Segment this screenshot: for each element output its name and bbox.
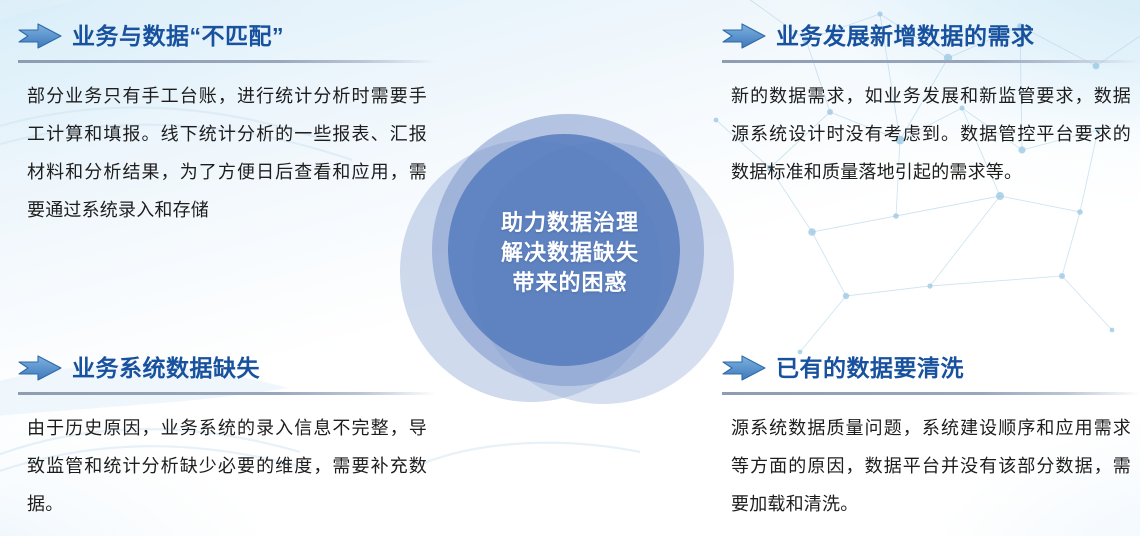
panel-bottom-left-divider — [18, 392, 436, 395]
panel-top-right-body: 新的数据需求，如业务发展和新监管要求，数据源系统设计时没有考虑到。数据管控平台要… — [731, 77, 1131, 191]
arrow-right-icon — [18, 354, 62, 382]
panel-bottom-right: 已有的数据要清洗 源系统数据质量问题，系统建设顺序和应用需求等方面的原因，数据平… — [722, 348, 1140, 523]
panel-bottom-right-title: 已有的数据要清洗 — [776, 354, 964, 382]
panel-bottom-right-divider — [722, 392, 1140, 395]
center-slogan-line-1: 助力数据治理 — [501, 208, 639, 238]
panel-top-left-divider — [18, 60, 436, 63]
panel-bottom-left: 业务系统数据缺失 由于历史原因，业务系统的录入信息不完整，导致监管和统计分析缺少… — [18, 348, 436, 523]
panel-bottom-left-body: 由于历史原因，业务系统的录入信息不完整，导致监管和统计分析缺少必要的维度，需要补… — [27, 409, 427, 523]
panel-top-left: 业务与数据“不匹配” 部分业务只有手工台账，进行统计分析时需要手工计算和填报。线… — [18, 16, 436, 229]
panel-bottom-left-header: 业务系统数据缺失 — [18, 348, 436, 388]
arrow-right-icon — [722, 354, 766, 382]
panel-bottom-right-body: 源系统数据质量问题，系统建设顺序和应用需求等方面的原因，数据平台并没有该部分数据… — [731, 409, 1131, 523]
panel-top-left-header: 业务与数据“不匹配” — [18, 16, 436, 56]
panel-top-left-body: 部分业务只有手工台账，进行统计分析时需要手工计算和填报。线下统计分析的一些报表、… — [27, 77, 427, 229]
center-graphic: 助力数据治理 解决数据缺失 带来的困惑 — [398, 98, 742, 408]
center-slogan-line-2: 解决数据缺失 — [501, 238, 639, 268]
panel-bottom-left-title: 业务系统数据缺失 — [72, 354, 260, 382]
panel-bottom-right-header: 已有的数据要清洗 — [722, 348, 1140, 388]
arrow-right-icon — [18, 22, 62, 50]
panel-top-right-divider — [722, 60, 1140, 63]
panel-top-right-header: 业务发展新增数据的需求 — [722, 16, 1140, 56]
panel-top-right-title: 业务发展新增数据的需求 — [776, 22, 1035, 50]
center-slogan: 助力数据治理 解决数据缺失 带来的困惑 — [398, 98, 742, 408]
slide-canvas: 助力数据治理 解决数据缺失 带来的困惑 业务与数据“不匹配” 部分业务只有手工台… — [0, 0, 1140, 536]
panel-top-left-title: 业务与数据“不匹配” — [72, 22, 284, 50]
arrow-right-icon — [722, 22, 766, 50]
center-slogan-line-3: 带来的困惑 — [512, 268, 627, 298]
panel-top-right: 业务发展新增数据的需求 新的数据需求，如业务发展和新监管要求，数据源系统设计时没… — [722, 16, 1140, 191]
